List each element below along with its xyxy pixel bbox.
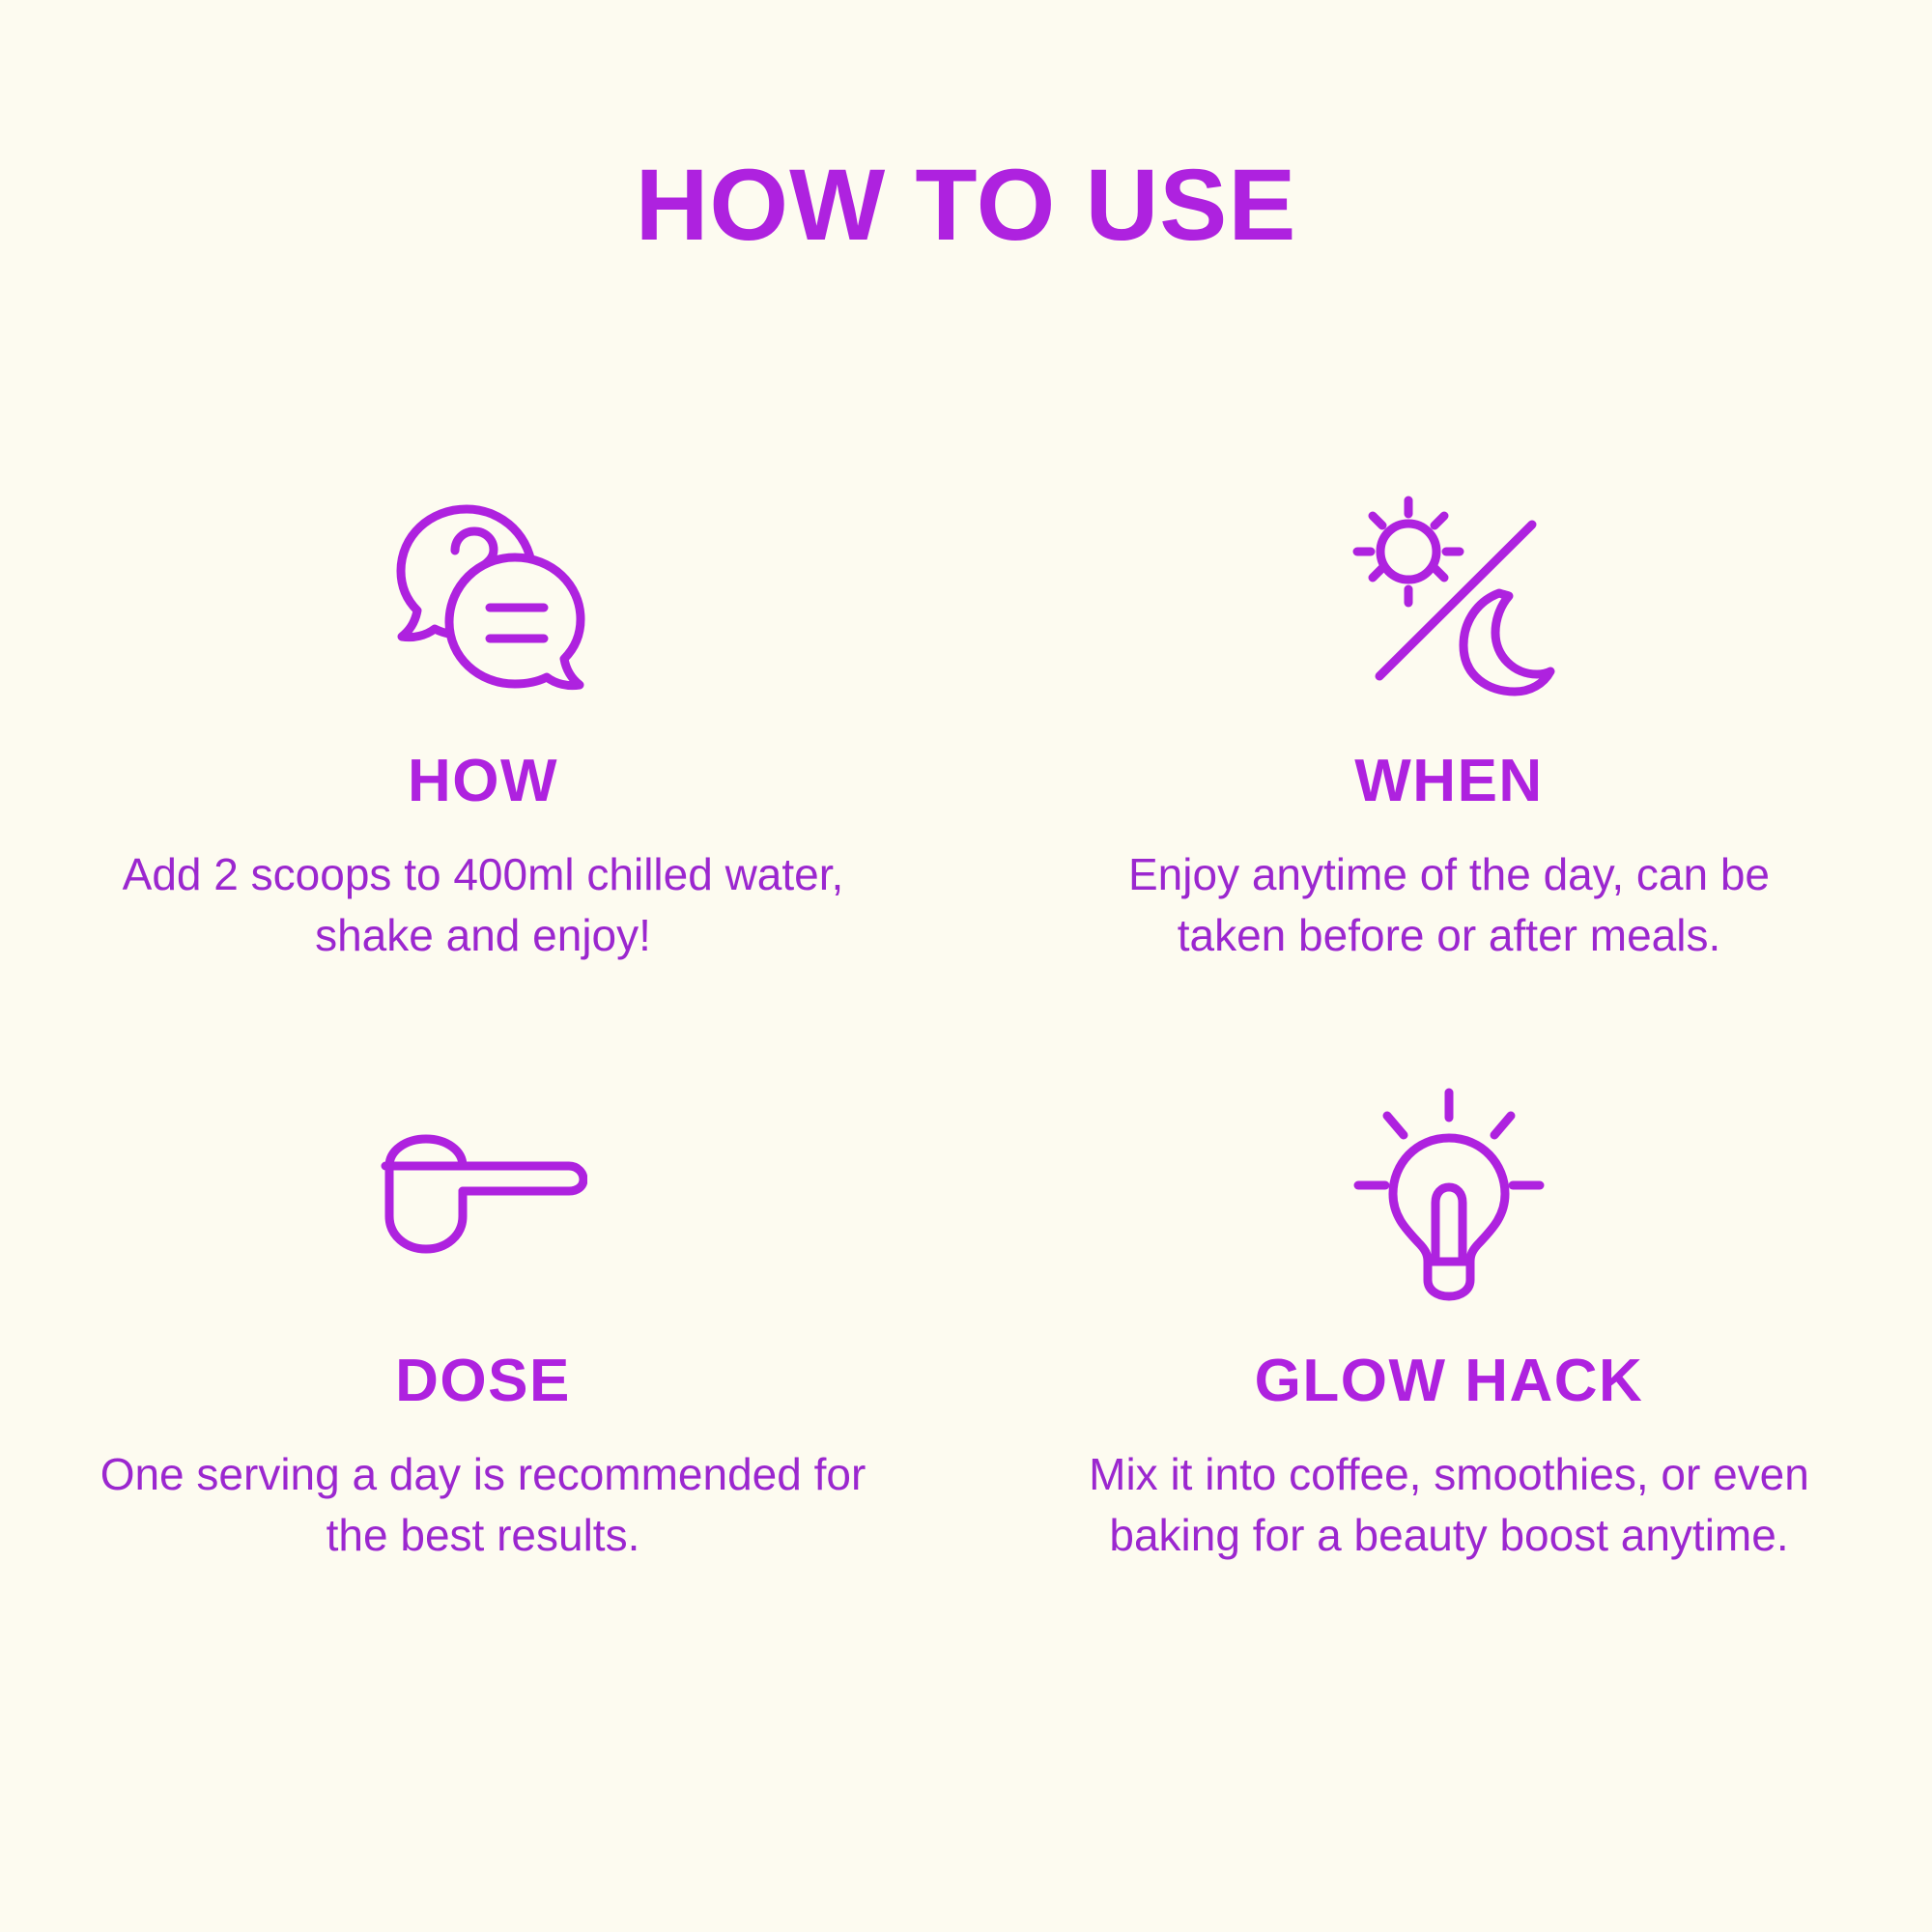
card-title-dose: DOSE [395, 1351, 571, 1411]
card-glow-hack: GLOW HACK Mix it into coffee, smoothies,… [966, 1083, 1932, 1567]
lightbulb-icon [1350, 1083, 1548, 1305]
card-title-when: WHEN [1354, 752, 1543, 811]
measuring-scoop-icon [380, 1083, 587, 1305]
card-title-glow-hack: GLOW HACK [1255, 1351, 1644, 1411]
steps-grid: HOW Add 2 scoops to 400ml chilled water,… [0, 483, 1932, 1567]
speech-bubbles-icon [372, 483, 594, 705]
card-body-when: Enjoy anytime of the day, can be taken b… [1072, 844, 1826, 967]
card-how: HOW Add 2 scoops to 400ml chilled water,… [0, 483, 966, 967]
sun-moon-icon [1343, 483, 1555, 705]
card-body-how: Add 2 scoops to 400ml chilled water, sha… [106, 844, 860, 967]
card-dose: DOSE One serving a day is recommended fo… [0, 1083, 966, 1567]
page-title: HOW TO USE [0, 155, 1932, 256]
card-body-glow-hack: Mix it into coffee, smoothies, or even b… [1034, 1444, 1864, 1567]
how-to-use-infographic: HOW TO USE HOW Add 2 scoops to 400ml chi… [0, 0, 1932, 1932]
card-when: WHEN Enjoy anytime of the day, can be ta… [966, 483, 1932, 967]
card-body-dose: One serving a day is recommended for the… [68, 1444, 898, 1567]
card-title-how: HOW [408, 752, 558, 811]
